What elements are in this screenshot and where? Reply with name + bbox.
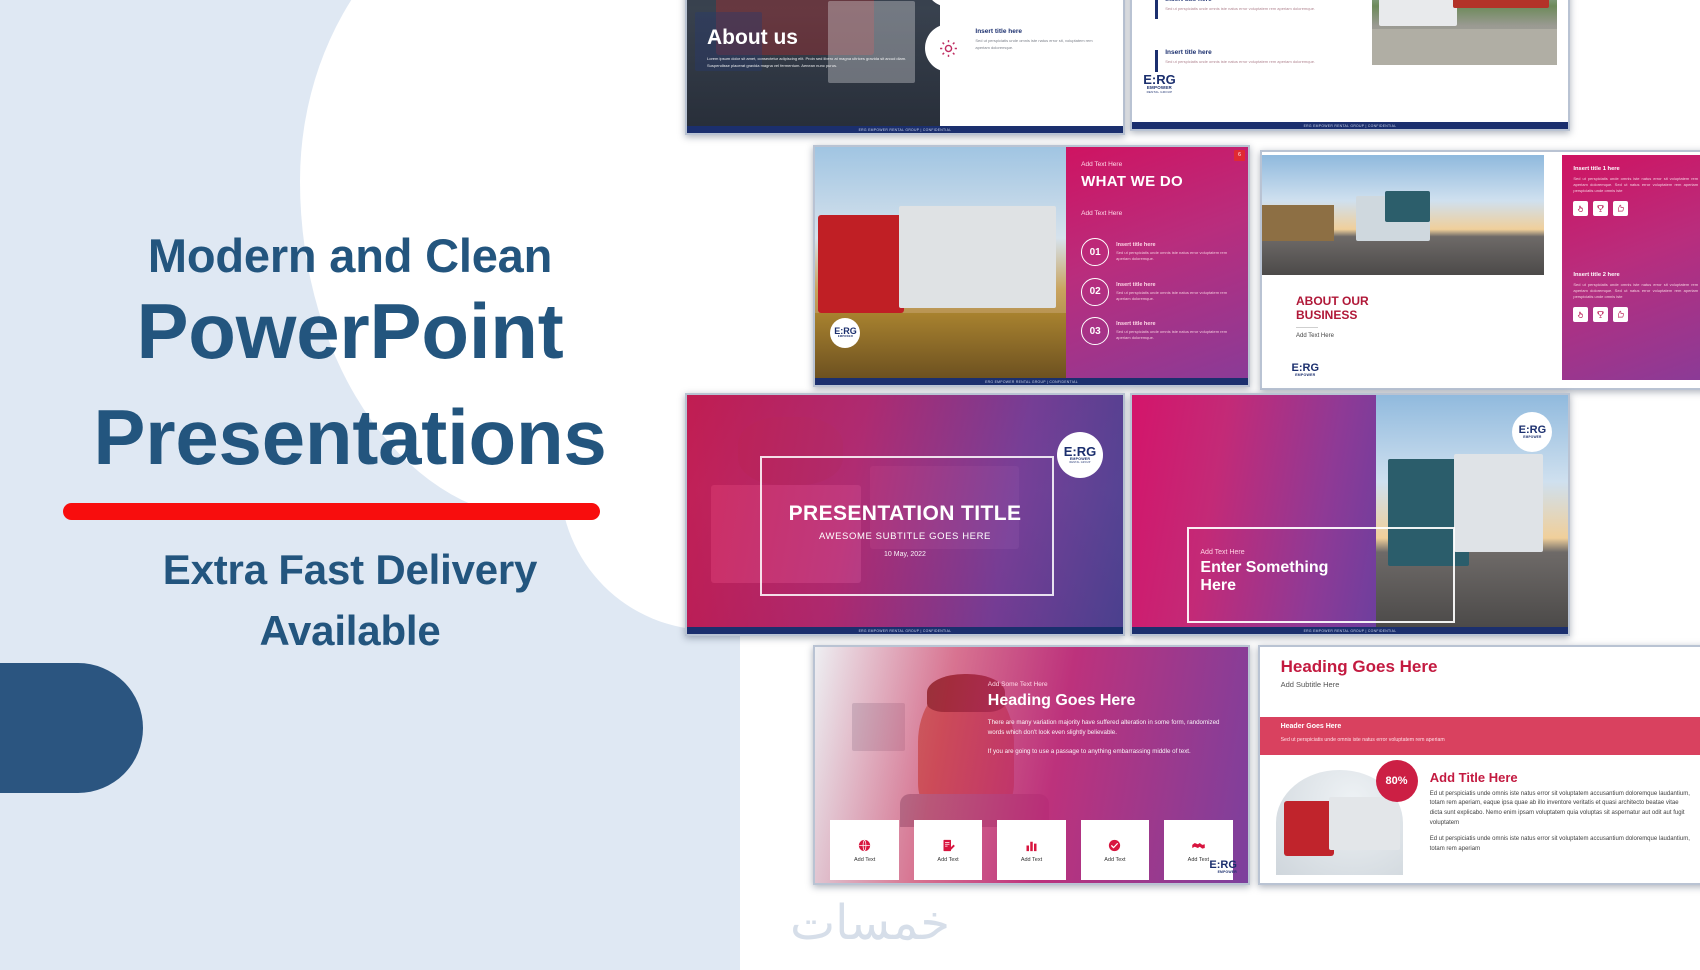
- slide-footer-bar: ERG EMPOWER RENTAL GROUP | CONFIDENTIAL: [685, 627, 1125, 636]
- flatbed-truck-photo: [1372, 0, 1557, 65]
- erg-logo: E:RG EMPOWER: [1292, 363, 1320, 378]
- bar-chart-icon: [1024, 838, 1039, 853]
- trophy-icon[interactable]: [1593, 201, 1608, 216]
- stat-percentage-badge: 80%: [1376, 760, 1418, 802]
- step-number-badge: 03: [1081, 317, 1109, 345]
- step-0-title: Insert title here: [1116, 242, 1235, 248]
- slide-footer-text: ERG EMPOWER RENTAL GROUP | CONFIDENTIAL: [1130, 122, 1570, 131]
- step-1-desc: Sed ut perspiciatis unde omnis iste natu…: [1116, 290, 1235, 302]
- erg-logo-sub: RENTAL GROUP: [1070, 462, 1091, 465]
- business-panel-1-icons: [1573, 307, 1698, 322]
- heading-icon-strip: Add Text Add Text Add Text Add Text Add …: [830, 820, 1232, 880]
- about-business-title-1: ABOUT OUR: [1296, 294, 1494, 308]
- what-we-do-slide[interactable]: Add Text Here WHAT WE DO Add Text Here 0…: [813, 145, 1250, 387]
- gear-icon-circle[interactable]: [925, 24, 973, 72]
- step-2-desc: Sed ut perspiciatis unde omnis iste natu…: [1116, 329, 1235, 341]
- slide-footer-bar: ERG EMPOWER RENTAL GROUP | CONFIDENTIAL: [1130, 627, 1570, 636]
- erg-logo-name: EMPOWER: [1218, 871, 1237, 875]
- enter-something-here-slide[interactable]: Add Text Here Enter Something Here E:RG …: [1130, 393, 1570, 636]
- title-text-group: PRESENTATION TITLE AWESOME SUBTITLE GOES…: [760, 502, 1050, 558]
- heading-stats-slide[interactable]: Heading Goes Here Add Subtitle Here Head…: [1258, 645, 1700, 885]
- about-business-subtitle: Add Text Here: [1296, 333, 1494, 339]
- business-panel-0: Insert title 1 here Sed ut perspiciatis …: [1573, 166, 1698, 216]
- heading-title: Heading Goes Here: [988, 692, 1228, 710]
- stats-band-desc: Sed ut perspiciatis unde omnis iste natu…: [1281, 737, 1445, 743]
- stats-content-title: Add Title Here: [1430, 770, 1692, 785]
- erg-logo-name: EMPOWER: [838, 336, 853, 339]
- stats-heading-group: Heading Goes Here Add Subtitle Here: [1281, 657, 1438, 689]
- about-business-panels: Insert title 1 here Sed ut perspiciatis …: [1562, 155, 1700, 381]
- icon-tile-2[interactable]: Add Text: [997, 820, 1065, 880]
- bullet-item-1-desc: Sed ut perspiciatis unde omnis iste natu…: [1165, 6, 1341, 12]
- heading-goes-here-slide[interactable]: Add Some Text Here Heading Goes Here The…: [813, 645, 1250, 885]
- handshake-icon: [1191, 838, 1206, 853]
- bullet-bar: [1155, 50, 1158, 72]
- about-us-body: Lorem ipsum dolor sit amet, consectetur …: [707, 56, 918, 68]
- icon-tile-0-label: Add Text: [854, 857, 875, 863]
- about-us-item-2: Insert title here Sed ut perspiciatis un…: [975, 28, 1107, 50]
- trophy-icon[interactable]: [1593, 307, 1608, 322]
- globe-icon: [857, 838, 872, 853]
- erg-logo: E:RG EMPOWER: [1209, 860, 1237, 875]
- bullet-bar: [1155, 0, 1158, 19]
- about-business-title-2: BUSINESS: [1296, 308, 1494, 322]
- heading-eyebrow: Add Some Text Here: [988, 681, 1228, 688]
- heading-para-2: If you are going to use a passage to any…: [988, 747, 1228, 757]
- enter-something-text: Add Text Here Enter Something Here: [1200, 549, 1429, 595]
- stats-title: Heading Goes Here: [1281, 657, 1438, 677]
- business-panel-1-title: Insert title 2 here: [1573, 272, 1698, 278]
- enter-something-eyebrow: Add Text Here: [1200, 549, 1429, 556]
- stats-content-group: Add Title Here Ed ut perspiciatis unde o…: [1430, 770, 1692, 855]
- business-panel-1-desc: Sed ut perspiciatis unde omnis iste natu…: [1573, 282, 1698, 301]
- icon-tile-1-label: Add Text: [937, 857, 958, 863]
- erg-logo: E:RG EMPOWER RENTAL GROUP: [1143, 73, 1176, 94]
- gear-icon: [937, 37, 960, 60]
- heading-text-group: Add Some Text Here Heading Goes Here The…: [988, 681, 1228, 757]
- erg-logo-sub: RENTAL GROUP: [1147, 91, 1173, 94]
- presentation-date: 10 May, 2022: [760, 551, 1050, 558]
- what-we-do-step-0: 01 Insert title here Sed ut perspiciatis…: [1081, 238, 1235, 266]
- what-we-do-step-2: 03 Insert title here Sed ut perspiciatis…: [1081, 317, 1235, 345]
- step-number-badge: 02: [1081, 278, 1109, 306]
- presentation-title-slide[interactable]: PRESENTATION TITLE AWESOME SUBTITLE GOES…: [685, 393, 1125, 636]
- enter-something-title-1: Enter Something: [1200, 559, 1429, 577]
- what-we-do-panel: Add Text Here WHAT WE DO Add Text Here 0…: [1066, 145, 1250, 378]
- about-us-item-2-title: Insert title here: [975, 28, 1107, 35]
- icon-tile-3-label: Add Text: [1104, 857, 1125, 863]
- heading-para-1: There are many variation majority have s…: [988, 718, 1228, 738]
- promo-graphic: Modern and Clean PowerPoint Presentation…: [0, 0, 1700, 970]
- bullet-item-2: Insert title here Sed ut perspiciatis un…: [1165, 49, 1341, 65]
- slide-footer-bar: ERG EMPOWER RENTAL GROUP | CONFIDENTIAL: [813, 378, 1250, 387]
- icon-tile-3[interactable]: Add Text: [1081, 820, 1149, 880]
- what-we-do-eyebrow: Add Text Here: [1081, 161, 1122, 168]
- edit-doc-icon: [941, 838, 956, 853]
- check-icon: [1107, 838, 1122, 853]
- icon-tile-2-label: Add Text: [1021, 857, 1042, 863]
- business-panel-0-desc: Sed ut perspiciatis unde omnis iste natu…: [1573, 176, 1698, 195]
- stats-content-para-2: Ed ut perspiciatis unde omnis iste natus…: [1430, 835, 1692, 854]
- enter-something-title-2: Here: [1200, 577, 1429, 595]
- stats-band: Header Goes Here Sed ut perspiciatis und…: [1258, 717, 1700, 755]
- about-us-text: About us Lorem ipsum dolor sit amet, con…: [707, 26, 918, 68]
- slide-footer-text: ERG EMPOWER RENTAL GROUP | CONFIDENTIAL: [685, 126, 1125, 135]
- khamsat-watermark: خمسات: [690, 895, 1050, 951]
- slide-number-badge: 6: [1234, 150, 1245, 161]
- presentation-title: PRESENTATION TITLE: [760, 502, 1050, 526]
- about-us-slide[interactable]: About us Lorem ipsum dolor sit amet, con…: [685, 0, 1125, 135]
- icon-tile-1[interactable]: Add Text: [914, 820, 982, 880]
- slide-deck: About us Lorem ipsum dolor sit amet, con…: [0, 0, 1700, 970]
- thumbs-up-icon[interactable]: [1613, 201, 1628, 216]
- stats-content-para-1: Ed ut perspiciatis unde omnis iste natus…: [1430, 790, 1692, 828]
- step-2-title: Insert title here: [1116, 321, 1235, 327]
- about-us-item-2-desc: Sed ut perspiciatis unde omnis iste natu…: [975, 38, 1107, 50]
- presentation-subtitle: AWESOME SUBTITLE GOES HERE: [760, 531, 1050, 542]
- erg-logo: E:RG EMPOWER RENTAL GROUP: [1057, 432, 1103, 478]
- icon-tile-4-label: Add Text: [1188, 857, 1209, 863]
- slide-footer-text: ERG EMPOWER RENTAL GROUP | CONFIDENTIAL: [813, 378, 1250, 387]
- hand-pointer-icon[interactable]: [1573, 307, 1588, 322]
- bullet-item-1: Insert title here Sed ut perspiciatis un…: [1165, 0, 1341, 12]
- about-us-title: About us: [707, 26, 918, 50]
- what-we-do-step-1: 02 Insert title here Sed ut perspiciatis…: [1081, 278, 1235, 306]
- erg-logo-name: EMPOWER: [1295, 374, 1315, 378]
- slide-footer-text: ERG EMPOWER RENTAL GROUP | CONFIDENTIAL: [685, 627, 1125, 636]
- bullets-with-photo-slide[interactable]: Insert title here Sed ut perspiciatis un…: [1130, 0, 1570, 131]
- erg-logo-name: EMPOWER: [1523, 436, 1541, 439]
- bullet-item-2-title: Insert title here: [1165, 49, 1341, 56]
- step-0-desc: Sed ut perspiciatis unde omnis iste natu…: [1116, 250, 1235, 262]
- hand-pointer-icon[interactable]: [1573, 201, 1588, 216]
- step-number-badge: 01: [1081, 238, 1109, 266]
- step-1-title: Insert title here: [1116, 282, 1235, 288]
- business-panel-0-icons: [1573, 201, 1698, 216]
- slide-footer-bar: ERG EMPOWER RENTAL GROUP | CONFIDENTIAL: [685, 126, 1125, 135]
- business-panel-1: Insert title 2 here Sed ut perspiciatis …: [1573, 272, 1698, 322]
- bullet-item-2-desc: Sed ut perspiciatis unde omnis iste natu…: [1165, 59, 1341, 65]
- icon-tile-0[interactable]: Add Text: [830, 820, 898, 880]
- highway-truck-photo: [1260, 155, 1544, 275]
- what-we-do-subhead: Add Text Here: [1081, 210, 1122, 217]
- thumbs-up-icon[interactable]: [1613, 307, 1628, 322]
- stats-band-title: Header Goes Here: [1281, 723, 1342, 730]
- bullet-item-1-title: Insert title here: [1165, 0, 1341, 3]
- what-we-do-title: WHAT WE DO: [1081, 173, 1183, 190]
- slide-footer-text: ERG EMPOWER RENTAL GROUP | CONFIDENTIAL: [1130, 627, 1570, 636]
- stats-subtitle: Add Subtitle Here: [1281, 680, 1438, 689]
- about-business-text: ABOUT OUR BUSINESS Add Text Here: [1296, 294, 1494, 339]
- business-panel-0-title: Insert title 1 here: [1573, 166, 1698, 172]
- slide-footer-bar: ERG EMPOWER RENTAL GROUP | CONFIDENTIAL: [1130, 122, 1570, 131]
- about-our-business-slide[interactable]: ABOUT OUR BUSINESS Add Text Here Insert …: [1260, 150, 1700, 390]
